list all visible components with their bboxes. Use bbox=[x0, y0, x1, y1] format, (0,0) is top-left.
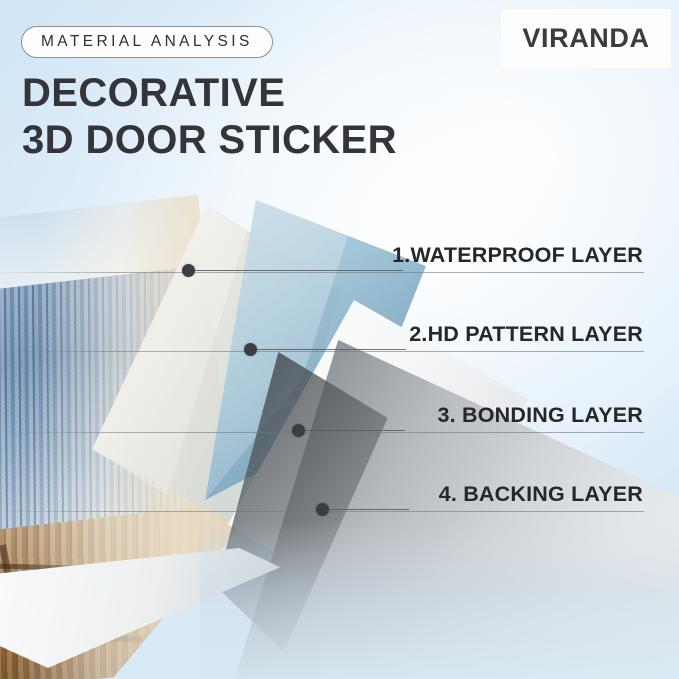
callout-dot-waterproof bbox=[182, 264, 195, 277]
callout-label-hd-pattern: 2.HD PATTERN LAYER bbox=[409, 322, 643, 347]
infographic-canvas: MATERIAL ANALYSIS DECORATIVE 3D DOOR STI… bbox=[0, 0, 679, 679]
backing-layer-fade bbox=[200, 520, 679, 679]
callout-label-bonding: 3. BONDING LAYER bbox=[438, 403, 644, 428]
page-title-line-1: DECORATIVE bbox=[22, 71, 285, 115]
callout-dot-hd-pattern bbox=[244, 343, 257, 356]
callout-leader-waterproof bbox=[193, 270, 403, 271]
callout-rule-hd-pattern bbox=[0, 351, 644, 352]
callout-dot-bonding bbox=[292, 424, 305, 437]
callout-leader-backing bbox=[329, 509, 409, 510]
callout-leader-hd-pattern bbox=[256, 349, 406, 350]
material-analysis-badge: MATERIAL ANALYSIS bbox=[21, 26, 273, 58]
callout-rule-waterproof bbox=[0, 272, 644, 273]
badge-label: MATERIAL ANALYSIS bbox=[41, 33, 253, 51]
callout-rule-bonding bbox=[0, 432, 644, 433]
brand-logo: VIRANDA bbox=[501, 9, 671, 68]
callout-leader-bonding bbox=[305, 430, 405, 431]
page-title: DECORATIVE 3D DOOR STICKER bbox=[22, 70, 397, 164]
callout-label-backing: 4. BACKING LAYER bbox=[439, 482, 643, 507]
page-title-line-2: 3D DOOR STICKER bbox=[22, 117, 397, 164]
brand-name: VIRANDA bbox=[522, 23, 649, 54]
callout-dot-backing bbox=[316, 503, 329, 516]
callout-label-waterproof: 1.WATERPROOF LAYER bbox=[392, 243, 643, 268]
